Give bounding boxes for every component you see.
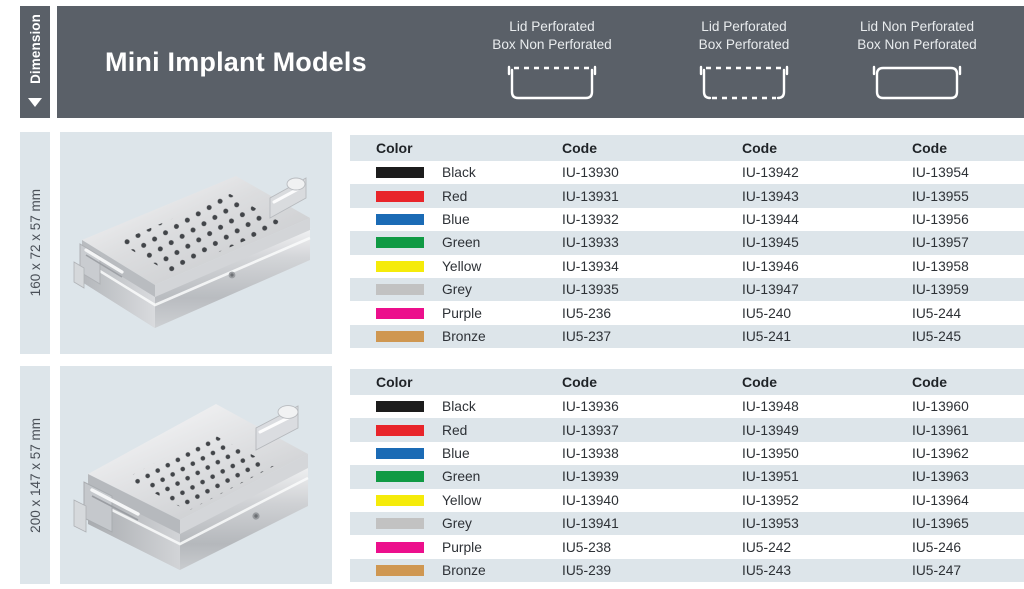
color-swatch	[376, 542, 424, 553]
code-cell-3: IU5-246	[886, 535, 1024, 558]
color-name: Blue	[442, 446, 470, 461]
table-row[interactable]: Yellow IU-13934 IU-13946 IU-13958	[350, 255, 1024, 278]
table-row[interactable]: Blue IU-13938 IU-13950 IU-13962	[350, 442, 1024, 465]
code-cell-3: IU-13954	[886, 161, 1024, 184]
code-cell-2: IU5-242	[716, 535, 886, 558]
col-header-code-2: Code	[716, 369, 886, 395]
code-cell-3: IU-13960	[886, 395, 1024, 418]
code-cell-1: IU-13941	[536, 512, 716, 535]
code-cell-3: IU-13959	[886, 278, 1024, 301]
code-cell-1: IU-13930	[536, 161, 716, 184]
color-name: Grey	[442, 282, 472, 297]
header-column-line2: Box Perforated	[699, 36, 790, 54]
code-cell-3: IU-13965	[886, 512, 1024, 535]
code-cell-2: IU5-240	[716, 301, 886, 324]
triangle-down-icon	[28, 98, 42, 107]
color-name: Bronze	[442, 563, 486, 578]
color-name: Black	[442, 165, 476, 180]
header-column-line1: Lid Perforated	[509, 18, 594, 36]
code-cell-1: IU-13940	[536, 489, 716, 512]
table-row[interactable]: Bronze IU5-237 IU5-241 IU5-245	[350, 325, 1024, 348]
code-cell-2: IU-13951	[716, 465, 886, 488]
product-table-large: Color Code Code Code Black IU-13936 IU-1…	[350, 369, 1024, 582]
table-row[interactable]: Bronze IU5-239 IU5-243 IU5-247	[350, 559, 1024, 582]
color-cell: Blue	[350, 442, 536, 465]
color-swatch	[376, 284, 424, 295]
col-header-code-3: Code	[886, 135, 1024, 161]
product-table-small: Color Code Code Code Black IU-13930 IU-1…	[350, 135, 1024, 348]
code-cell-3: IU5-247	[886, 559, 1024, 582]
color-name: Yellow	[442, 493, 481, 508]
color-cell: Yellow	[350, 489, 536, 512]
page-title: Mini Implant Models	[105, 6, 367, 118]
header-column-line2: Box Non Perforated	[857, 36, 976, 54]
code-cell-2: IU-13942	[716, 161, 886, 184]
header-column-lid-perforated-box-perforated: Lid Perforated Box Perforated	[649, 18, 839, 107]
mini-implant-container-small-illustration	[60, 132, 332, 354]
color-name: Yellow	[442, 259, 481, 274]
mini-implant-container-large-illustration	[60, 366, 332, 584]
color-cell: Black	[350, 395, 536, 418]
color-name: Bronze	[442, 329, 486, 344]
color-name: Grey	[442, 516, 472, 531]
code-cell-2: IU-13953	[716, 512, 886, 535]
table-row[interactable]: Grey IU-13935 IU-13947 IU-13959	[350, 278, 1024, 301]
page-header: Dimension Mini Implant Models Lid Perfor…	[0, 0, 1024, 122]
code-cell-1: IU-13933	[536, 231, 716, 254]
table-row[interactable]: Grey IU-13941 IU-13953 IU-13965	[350, 512, 1024, 535]
code-cell-3: IU-13961	[886, 418, 1024, 441]
header-column-line2: Box Non Perforated	[492, 36, 611, 54]
code-cell-2: IU5-241	[716, 325, 886, 348]
product-image-small-container	[60, 132, 332, 354]
code-cell-2: IU-13950	[716, 442, 886, 465]
color-cell: Black	[350, 161, 536, 184]
color-swatch	[376, 518, 424, 529]
color-swatch	[376, 191, 424, 202]
header-column-line1: Lid Perforated	[701, 18, 786, 36]
table-row[interactable]: Black IU-13936 IU-13948 IU-13960	[350, 395, 1024, 418]
code-cell-2: IU-13949	[716, 418, 886, 441]
dimension-tab[interactable]: Dimension	[20, 6, 50, 118]
table-header-row: Color Code Code Code	[350, 369, 1024, 395]
color-name: Blue	[442, 212, 470, 227]
color-cell: Grey	[350, 278, 536, 301]
table-body: Black IU-13930 IU-13942 IU-13954 Red IU-…	[350, 161, 1024, 348]
code-cell-3: IU-13962	[886, 442, 1024, 465]
header-panel: Mini Implant Models Lid Perforated Box N…	[57, 6, 1024, 118]
table-row[interactable]: Purple IU5-238 IU5-242 IU5-246	[350, 535, 1024, 558]
code-cell-3: IU-13964	[886, 489, 1024, 512]
code-cell-1: IU5-237	[536, 325, 716, 348]
color-swatch	[376, 471, 424, 482]
code-cell-2: IU-13943	[716, 184, 886, 207]
table-row[interactable]: Green IU-13933 IU-13945 IU-13957	[350, 231, 1024, 254]
color-name: Red	[442, 423, 467, 438]
color-name: Purple	[442, 540, 482, 555]
code-cell-1: IU5-236	[536, 301, 716, 324]
color-cell: Green	[350, 231, 536, 254]
color-cell: Bronze	[350, 325, 536, 348]
color-name: Purple	[442, 306, 482, 321]
color-swatch	[376, 425, 424, 436]
color-name: Black	[442, 399, 476, 414]
color-cell: Purple	[350, 535, 536, 558]
table-row[interactable]: Yellow IU-13940 IU-13952 IU-13964	[350, 489, 1024, 512]
table-row[interactable]: Red IU-13931 IU-13943 IU-13955	[350, 184, 1024, 207]
table-row[interactable]: Red IU-13937 IU-13949 IU-13961	[350, 418, 1024, 441]
code-cell-3: IU-13963	[886, 465, 1024, 488]
code-cell-1: IU-13937	[536, 418, 716, 441]
color-swatch	[376, 331, 424, 342]
header-column-lid-perforated-box-non-perforated: Lid Perforated Box Non Perforated	[457, 18, 647, 107]
color-cell: Blue	[350, 208, 536, 231]
color-name: Red	[442, 189, 467, 204]
table-row[interactable]: Green IU-13939 IU-13951 IU-13963	[350, 465, 1024, 488]
color-name: Green	[442, 235, 480, 250]
color-swatch	[376, 167, 424, 178]
table-row[interactable]: Purple IU5-236 IU5-240 IU5-244	[350, 301, 1024, 324]
code-cell-1: IU-13936	[536, 395, 716, 418]
code-cell-1: IU-13935	[536, 278, 716, 301]
code-cell-2: IU-13947	[716, 278, 886, 301]
color-cell: Red	[350, 184, 536, 207]
col-header-code-1: Code	[536, 369, 716, 395]
color-swatch	[376, 495, 424, 506]
code-cell-2: IU-13945	[716, 231, 886, 254]
code-cell-2: IU-13952	[716, 489, 886, 512]
col-header-code-3: Code	[886, 369, 1024, 395]
color-cell: Bronze	[350, 559, 536, 582]
table-header-row: Color Code Code Code	[350, 135, 1024, 161]
code-cell-1: IU-13938	[536, 442, 716, 465]
code-cell-3: IU-13956	[886, 208, 1024, 231]
color-cell: Green	[350, 465, 536, 488]
code-cell-1: IU5-239	[536, 559, 716, 582]
code-cell-3: IU-13957	[886, 231, 1024, 254]
col-header-color: Color	[350, 135, 536, 161]
color-swatch	[376, 401, 424, 412]
color-name: Green	[442, 469, 480, 484]
code-cell-1: IU-13931	[536, 184, 716, 207]
table-row[interactable]: Blue IU-13932 IU-13944 IU-13956	[350, 208, 1024, 231]
color-cell: Red	[350, 418, 536, 441]
color-swatch	[376, 308, 424, 319]
code-cell-3: IU-13955	[886, 184, 1024, 207]
box-non-perforated-icon	[867, 62, 967, 107]
dimension-label: 200 x 147 x 57 mm	[28, 418, 43, 533]
dimension-label: 160 x 72 x 57 mm	[28, 189, 43, 296]
code-cell-2: IU-13944	[716, 208, 886, 231]
color-swatch	[376, 448, 424, 459]
code-cell-2: IU5-243	[716, 559, 886, 582]
dimension-strip-1: 160 x 72 x 57 mm	[20, 132, 50, 354]
color-cell: Yellow	[350, 255, 536, 278]
code-cell-3: IU5-244	[886, 301, 1024, 324]
code-cell-3: IU5-245	[886, 325, 1024, 348]
code-cell-1: IU-13934	[536, 255, 716, 278]
box-lid-and-box-perforated-icon	[694, 62, 794, 107]
code-cell-3: IU-13958	[886, 255, 1024, 278]
col-header-code-1: Code	[536, 135, 716, 161]
table-body: Black IU-13936 IU-13948 IU-13960 Red IU-…	[350, 395, 1024, 582]
color-swatch	[376, 237, 424, 248]
col-header-code-2: Code	[716, 135, 886, 161]
product-image-large-container	[60, 366, 332, 584]
box-lid-perforated-icon	[502, 62, 602, 107]
code-cell-2: IU-13946	[716, 255, 886, 278]
code-cell-1: IU-13932	[536, 208, 716, 231]
code-cell-1: IU5-238	[536, 535, 716, 558]
table-row[interactable]: Black IU-13930 IU-13942 IU-13954	[350, 161, 1024, 184]
header-column-lid-non-perforated-box-non-perforated: Lid Non Perforated Box Non Perforated	[822, 18, 1012, 107]
color-swatch	[376, 565, 424, 576]
dimension-tab-label: Dimension	[28, 14, 43, 84]
code-cell-2: IU-13948	[716, 395, 886, 418]
color-cell: Grey	[350, 512, 536, 535]
color-swatch	[376, 214, 424, 225]
color-swatch	[376, 261, 424, 272]
code-cell-1: IU-13939	[536, 465, 716, 488]
header-column-line1: Lid Non Perforated	[860, 18, 974, 36]
dimension-strip-2: 200 x 147 x 57 mm	[20, 366, 50, 584]
col-header-color: Color	[350, 369, 536, 395]
color-cell: Purple	[350, 301, 536, 324]
